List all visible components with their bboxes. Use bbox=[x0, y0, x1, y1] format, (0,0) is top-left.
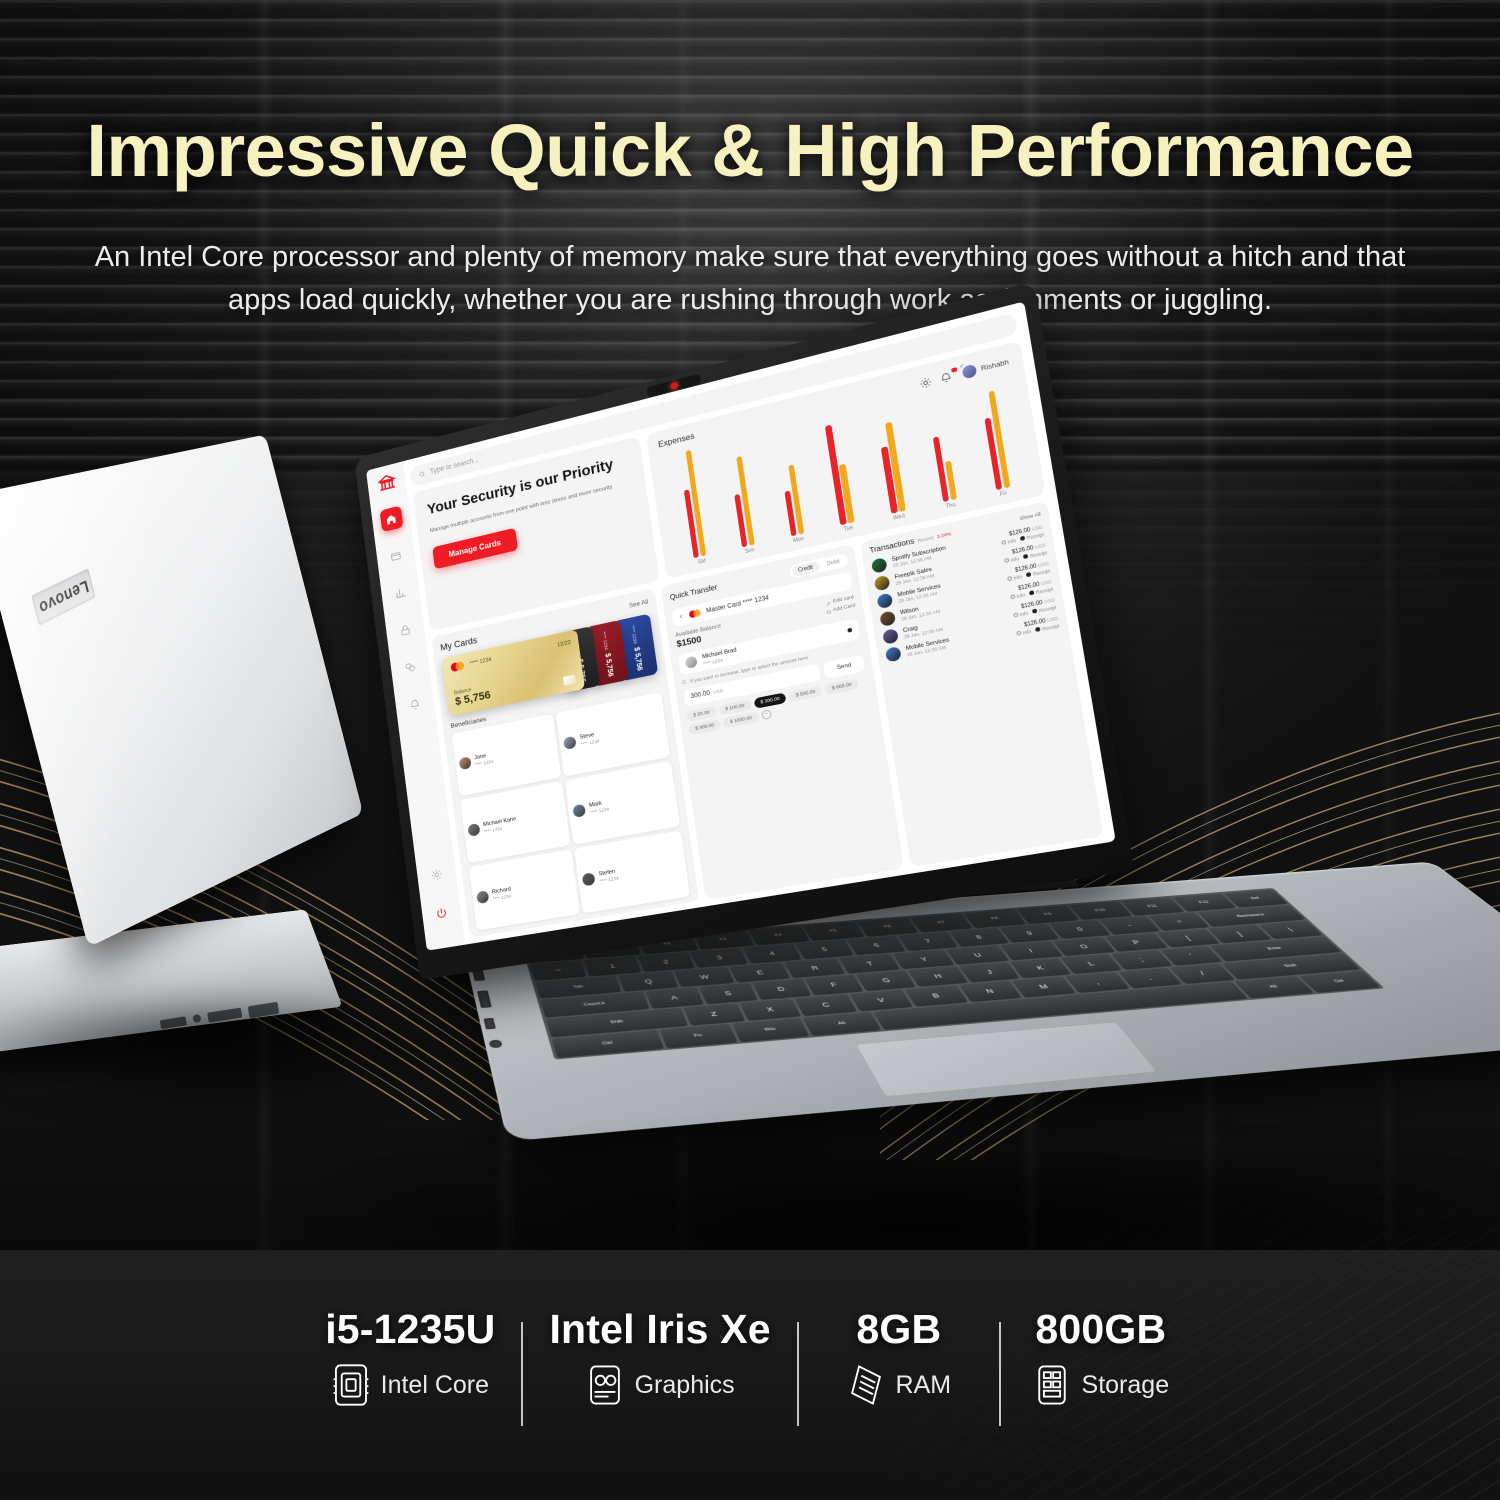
key[interactable]: N bbox=[959, 981, 1022, 1002]
card-actions: Edit card Add Card bbox=[825, 595, 856, 615]
mastercard-icon bbox=[450, 661, 464, 673]
key[interactable]: J bbox=[960, 962, 1020, 982]
key[interactable]: U bbox=[947, 945, 1009, 964]
key[interactable]: 7 bbox=[898, 932, 957, 951]
key[interactable]: , bbox=[1065, 972, 1129, 992]
spec-divider bbox=[797, 1322, 799, 1426]
key[interactable]: R bbox=[785, 958, 846, 978]
sidebar-item-security[interactable] bbox=[393, 616, 417, 643]
amount-chip[interactable]: $ 800.00 bbox=[825, 678, 860, 695]
remove-amount-button[interactable]: − bbox=[761, 709, 772, 720]
key[interactable]: 0 bbox=[1050, 920, 1110, 938]
amount-chip[interactable]: $ 900.00 bbox=[688, 719, 721, 735]
plus-card-icon bbox=[826, 609, 831, 614]
beneficiary-item[interactable]: Richard**** 1234 bbox=[469, 849, 580, 931]
key[interactable]: P bbox=[1105, 933, 1168, 952]
key[interactable]: Alt bbox=[1234, 976, 1314, 998]
spec-divider bbox=[521, 1322, 523, 1426]
key[interactable]: Ctrl bbox=[1300, 971, 1380, 992]
spec-ram: 8GB RAM bbox=[799, 1308, 999, 1407]
ram-icon bbox=[847, 1363, 885, 1407]
avatar bbox=[582, 872, 596, 886]
sidebar-item-settings[interactable] bbox=[424, 861, 449, 887]
transactions-panel: Transactions Recent 3.24% Show All Spoti… bbox=[860, 501, 1103, 867]
avatar bbox=[476, 890, 489, 904]
chip-icon bbox=[563, 674, 576, 685]
key[interactable]: I bbox=[1000, 941, 1062, 960]
spec-strip: i5-1235U Intel Core Intel Iris Xe Grap bbox=[0, 1308, 1500, 1426]
sidebar-item-notifications[interactable] bbox=[403, 691, 427, 718]
key[interactable]: F4 bbox=[748, 926, 808, 945]
bell-icon[interactable] bbox=[939, 370, 953, 384]
spec-processor: i5-1235U Intel Core bbox=[299, 1308, 521, 1407]
avatar bbox=[877, 593, 894, 610]
key[interactable]: 1 bbox=[584, 956, 641, 976]
key[interactable]: F5 bbox=[803, 922, 864, 941]
spec-divider bbox=[999, 1322, 1001, 1426]
lock-icon bbox=[399, 623, 412, 637]
sidebar-item-deals[interactable] bbox=[398, 654, 422, 681]
key[interactable]: H bbox=[908, 966, 968, 986]
avatar bbox=[871, 557, 888, 574]
card-icon bbox=[390, 549, 403, 563]
key[interactable]: E bbox=[730, 962, 790, 982]
amount-value: 300.00 bbox=[690, 690, 710, 700]
sidebar-item-home[interactable] bbox=[379, 506, 403, 533]
avatar bbox=[573, 804, 587, 818]
key[interactable]: G bbox=[857, 971, 916, 991]
transactions-period: Recent bbox=[917, 535, 934, 544]
key[interactable]: S bbox=[699, 983, 757, 1004]
bank-icon bbox=[377, 472, 397, 494]
card-number: **** 1234 bbox=[630, 625, 638, 644]
manage-cards-button[interactable]: Manage Cards bbox=[432, 528, 518, 570]
key[interactable]: Fn bbox=[660, 1024, 737, 1048]
tab-debit[interactable]: Debit bbox=[820, 555, 848, 571]
show-all-link[interactable]: Show All bbox=[1019, 511, 1041, 521]
key[interactable]: F10 bbox=[1070, 901, 1132, 919]
amount-chip[interactable]: $ 300.00 bbox=[753, 692, 787, 709]
spec-label: Graphics bbox=[635, 1371, 735, 1400]
sidebar-item-logout[interactable] bbox=[429, 899, 454, 925]
avatar bbox=[564, 736, 578, 750]
avatar bbox=[874, 575, 891, 592]
key[interactable]: F bbox=[805, 975, 864, 995]
amount-chip[interactable]: $ 1000.00 bbox=[723, 712, 759, 729]
my-cards-panel: My Cards See All **** 1234$ 5,756 **** 1… bbox=[431, 588, 700, 938]
key[interactable]: 6 bbox=[847, 936, 905, 955]
see-all-link[interactable]: See All bbox=[629, 600, 649, 610]
chart-icon bbox=[394, 586, 407, 600]
key[interactable]: F7 bbox=[911, 914, 972, 932]
key[interactable]: A bbox=[646, 988, 704, 1009]
spec-value: i5-1235U bbox=[325, 1308, 495, 1351]
sidebar-item-cards[interactable] bbox=[384, 542, 408, 569]
card-balance: $ 5,756 bbox=[632, 646, 642, 671]
key[interactable]: F9 bbox=[1017, 905, 1079, 923]
key[interactable]: Z bbox=[683, 1003, 744, 1025]
page-title: Impressive Quick & High Performance bbox=[0, 108, 1500, 193]
gpu-icon bbox=[586, 1363, 624, 1407]
avatar bbox=[962, 364, 978, 380]
send-button[interactable]: Send bbox=[823, 654, 865, 679]
spec-graphics: Intel Iris Xe Graphics bbox=[523, 1308, 796, 1407]
quick-transfer-title: Quick Transfer bbox=[670, 584, 718, 601]
avatar bbox=[459, 756, 472, 770]
key[interactable]: B bbox=[905, 985, 968, 1006]
key[interactable]: D bbox=[752, 979, 811, 999]
key[interactable]: 9 bbox=[1000, 924, 1059, 942]
card-expiry: 12/22 bbox=[557, 639, 571, 648]
key[interactable]: M bbox=[1012, 977, 1075, 997]
key[interactable]: T bbox=[839, 954, 900, 974]
key[interactable]: Alt bbox=[803, 1012, 881, 1035]
rear-laptop-shadow bbox=[0, 990, 480, 1110]
card-number: **** 1234 bbox=[601, 631, 609, 650]
key[interactable]: 4 bbox=[743, 944, 801, 963]
key[interactable]: C bbox=[795, 994, 857, 1015]
info-icon bbox=[682, 680, 687, 686]
logout-icon bbox=[435, 906, 448, 920]
deals-icon bbox=[404, 660, 417, 674]
my-cards-title: My Cards bbox=[440, 635, 478, 653]
beneficiary-item[interactable]: Michael Kane**** 1234 bbox=[460, 781, 570, 863]
avatar bbox=[685, 656, 698, 669]
spec-value: 8GB bbox=[856, 1308, 941, 1351]
key[interactable]: F8 bbox=[964, 909, 1026, 927]
key[interactable]: F6 bbox=[857, 918, 918, 936]
key[interactable]: O bbox=[1052, 937, 1115, 956]
spec-label: Intel Core bbox=[381, 1371, 489, 1400]
key-windows[interactable]: Win bbox=[732, 1018, 809, 1041]
avatar bbox=[467, 823, 480, 837]
mastercard-icon bbox=[689, 609, 702, 619]
home-icon bbox=[385, 512, 398, 526]
avatar bbox=[885, 646, 902, 663]
avatar bbox=[879, 610, 896, 627]
bell-icon bbox=[408, 697, 421, 711]
key[interactable]: Y bbox=[893, 949, 955, 969]
sidebar-spacer bbox=[418, 731, 435, 863]
key[interactable]: L bbox=[1061, 954, 1122, 973]
beneficiaries-grid: Jane**** 1234Steve**** 1234Michael Kane*… bbox=[452, 692, 691, 931]
beneficiary-item[interactable]: Stefen**** 1234 bbox=[575, 830, 691, 914]
laptop-main-view: Esc F1 F2 F3 F4 F5 F6 F7 F8 F9 F10 F11 F… bbox=[420, 435, 1500, 1235]
sidebar-item-statistics[interactable] bbox=[388, 579, 412, 606]
amount-currency: USD bbox=[713, 688, 724, 695]
spec-storage: 800GB Storage bbox=[1001, 1308, 1201, 1407]
spec-label: Storage bbox=[1082, 1371, 1170, 1400]
laptop-rear-lid: Lenovo bbox=[0, 435, 363, 948]
key[interactable]: 3 bbox=[690, 948, 747, 967]
chevron-left-icon[interactable] bbox=[679, 613, 685, 619]
storage-icon bbox=[1033, 1363, 1071, 1407]
key[interactable]: 5 bbox=[795, 940, 853, 959]
user-name: Rishabh bbox=[980, 358, 1009, 372]
search-icon bbox=[418, 470, 425, 478]
key[interactable]: 8 bbox=[949, 928, 1008, 947]
gear-icon[interactable] bbox=[919, 375, 933, 389]
spec-label: RAM bbox=[896, 1371, 952, 1400]
avatar bbox=[882, 628, 899, 645]
key[interactable]: F11 bbox=[1121, 898, 1183, 916]
amount-chip[interactable]: $ 500.00 bbox=[789, 685, 823, 702]
search-placeholder: Type to search... bbox=[430, 457, 480, 476]
page-subtitle: An Intel Core processor and plenty of me… bbox=[90, 236, 1410, 322]
key[interactable]: K bbox=[1011, 958, 1071, 978]
gear-icon bbox=[430, 867, 443, 881]
key[interactable]: - bbox=[1099, 916, 1159, 934]
transactions-list: Spotify Subscription28 Jan, 12:36 AM$126… bbox=[871, 523, 1094, 860]
key[interactable]: Q bbox=[618, 971, 678, 991]
poster-canvas: Impressive Quick & High Performance An I… bbox=[0, 0, 1500, 1500]
pencil-icon bbox=[826, 601, 831, 606]
tab-credit[interactable]: Credit bbox=[791, 561, 820, 577]
card-balance: $ 5,756 bbox=[603, 652, 613, 677]
key[interactable]: ~ bbox=[530, 960, 586, 980]
spec-value: Intel Iris Xe bbox=[549, 1308, 770, 1351]
key[interactable]: W bbox=[674, 967, 734, 987]
transactions-change: 3.24% bbox=[936, 531, 951, 539]
selected-card-label: Master Card **** 1234 bbox=[706, 595, 769, 615]
cpu-icon bbox=[332, 1363, 370, 1407]
key[interactable]: X bbox=[739, 999, 800, 1020]
key[interactable]: 2 bbox=[637, 952, 694, 971]
spec-value: 800GB bbox=[1035, 1308, 1166, 1351]
key[interactable]: V bbox=[850, 990, 912, 1011]
selected-dot-icon bbox=[847, 628, 852, 633]
card-number: **** 1234 bbox=[469, 656, 491, 666]
lenovo-logo-lid: Lenovo bbox=[31, 568, 95, 625]
